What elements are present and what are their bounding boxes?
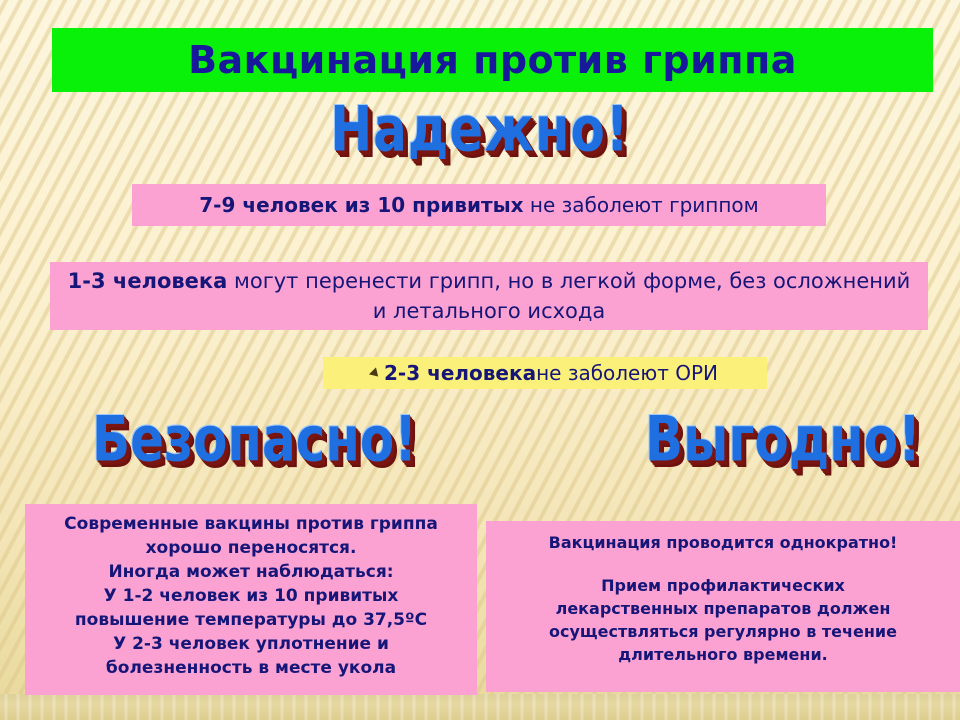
statement-box-reliability: 7-9 человек из 10 привитых не заболеют г… <box>132 184 826 226</box>
benefit-line: осуществляться регулярно в течение <box>494 620 952 643</box>
benefit-line: длительного времени. <box>494 643 952 666</box>
benefit-spacer <box>494 554 952 574</box>
statement-box-mild-course: 1-3 человека могут перенести грипп, но в… <box>50 262 928 330</box>
safety-line: Иногда может наблюдаться: <box>31 560 471 584</box>
benefit-text-box: Вакцинация проводится однократно! Прием … <box>486 521 960 692</box>
safety-line: болезненность в месте укола <box>31 656 471 680</box>
statement-bold-part: 7-9 человек из 10 привитых <box>199 193 523 217</box>
statement-regular-part: не заболеют ОРИ <box>536 361 718 385</box>
page-title: Вакцинация против гриппа <box>188 38 797 82</box>
statement-bold-part: 1-3 человека <box>68 269 228 293</box>
title-banner: Вакцинация против гриппа <box>52 28 933 92</box>
wordart-reliable: Надежно! <box>0 98 960 161</box>
wordart-safe: Безопасно! <box>92 408 417 471</box>
safety-text-box: Современные вакцины против гриппа хорошо… <box>25 504 477 695</box>
statement-regular-part: не заболеют гриппом <box>524 193 759 217</box>
statement-box-ari: 2-3 человека не заболеют ОРИ <box>323 357 767 389</box>
safety-line: повышение температуры до 37,5ºC <box>31 608 471 632</box>
bottom-decorative-band <box>0 694 960 720</box>
safety-line: хорошо переносятся. <box>31 536 471 560</box>
statement-bold-part: 2-3 человека <box>384 361 536 385</box>
statement-text: 1-3 человека могут перенести грипп, но в… <box>50 266 928 326</box>
statement-regular-part: могут перенести грипп, но в легкой форме… <box>227 269 910 323</box>
wordart-beneficial: Выгодно! <box>645 408 921 471</box>
benefit-line: Прием профилактических <box>494 574 952 597</box>
safety-line: Современные вакцины против гриппа <box>31 512 471 536</box>
benefit-line: лекарственных препаратов должен <box>494 597 952 620</box>
benefit-heading: Вакцинация проводится однократно! <box>494 531 952 554</box>
triangle-bullet-icon <box>369 367 382 380</box>
safety-line: У 2-3 человек уплотнение и <box>31 632 471 656</box>
statement-text: 7-9 человек из 10 привитых не заболеют г… <box>132 193 826 217</box>
safety-line: У 1-2 человек из 10 привитых <box>31 584 471 608</box>
